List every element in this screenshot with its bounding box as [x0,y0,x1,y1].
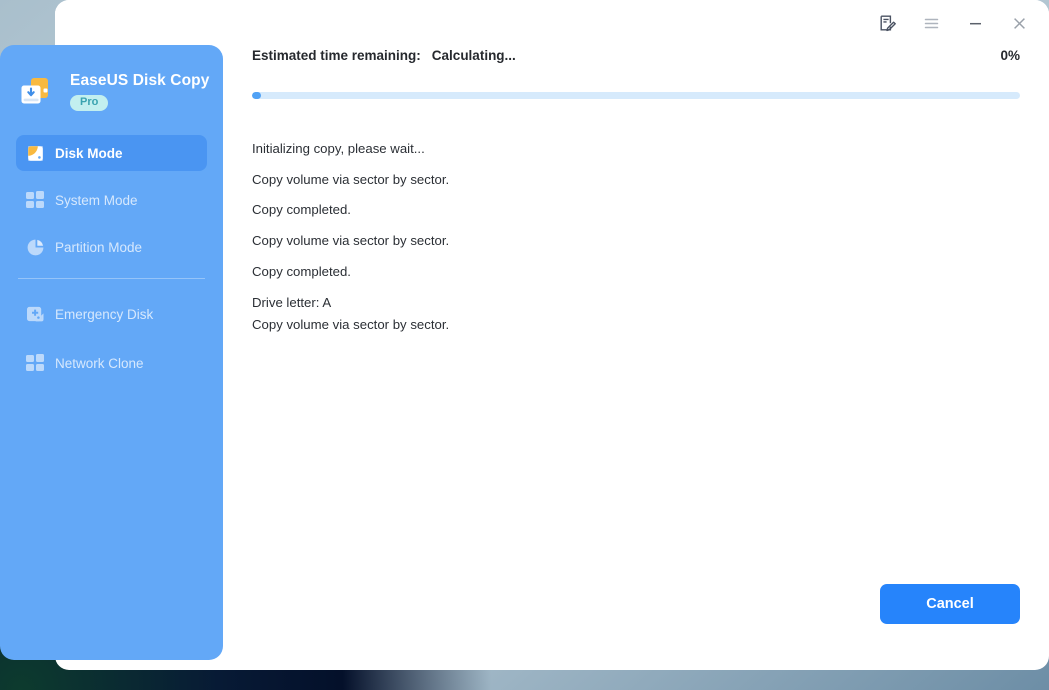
feedback-log-icon[interactable] [865,3,909,43]
log-line: Copy volume via sector by sector. [252,310,1020,341]
eta-label: Estimated time remaining: [252,48,421,63]
window-controls [865,0,1041,46]
sidebar-divider [18,278,205,279]
log-line: Copy volume via sector by sector. [252,226,1020,257]
desktop-background: EaseUS Disk Copy Pro Disk Mod [0,0,1049,690]
log-list: Initializing copy, please wait... Copy v… [252,134,1020,604]
log-line: Initializing copy, please wait... [252,134,1020,165]
log-line: Copy volume via sector by sector. [252,165,1020,196]
sidebar-item-label: Network Clone [55,356,144,371]
brand: EaseUS Disk Copy Pro [0,45,223,115]
title-bar [55,0,1049,46]
status-row: Estimated time remaining: Calculating...… [252,48,1020,63]
progress-bar [252,92,1020,99]
progress-bar-fill [252,92,261,99]
sidebar-item-disk-mode[interactable]: Disk Mode [16,135,207,171]
log-line: Copy completed. [252,195,1020,226]
sidebar-item-system-mode[interactable]: System Mode [16,182,207,218]
sidebar-item-partition-mode[interactable]: Partition Mode [16,229,207,265]
log-line: Drive letter: A [252,288,1020,310]
sidebar-item-network-clone[interactable]: Network Clone [16,345,207,381]
sidebar-nav-secondary: Emergency Disk Network Clone [0,296,223,381]
log-line: Copy completed. [252,257,1020,288]
minimize-icon[interactable] [953,3,997,43]
sidebar-nav: Disk Mode System Mode [0,135,223,381]
sidebar-item-label: System Mode [55,193,138,208]
emergency-disk-icon [26,305,45,324]
eta-wrap: Estimated time remaining: Calculating... [252,48,516,63]
eta-value: Calculating... [432,48,516,63]
sidebar-item-label: Emergency Disk [55,307,153,322]
network-clone-icon [26,354,45,373]
disk-mode-icon [26,144,45,163]
disk-copy-logo-icon [20,76,58,110]
sidebar-item-label: Disk Mode [55,146,123,161]
close-icon[interactable] [997,3,1041,43]
cancel-button[interactable]: Cancel [880,584,1020,624]
brand-text: EaseUS Disk Copy Pro [70,72,209,111]
partition-mode-icon [26,238,45,257]
brand-name: EaseUS Disk Copy [70,72,209,90]
system-mode-icon [26,191,45,210]
progress-percent: 0% [1000,48,1020,63]
main-content: Estimated time remaining: Calculating...… [223,46,1049,670]
sidebar-item-emergency-disk[interactable]: Emergency Disk [16,296,207,332]
sidebar-item-label: Partition Mode [55,240,142,255]
footer: Cancel [223,580,1049,670]
pro-badge: Pro [70,95,108,111]
menu-icon[interactable] [909,3,953,43]
app-window: EaseUS Disk Copy Pro Disk Mod [55,0,1049,670]
sidebar: EaseUS Disk Copy Pro Disk Mod [0,45,223,660]
